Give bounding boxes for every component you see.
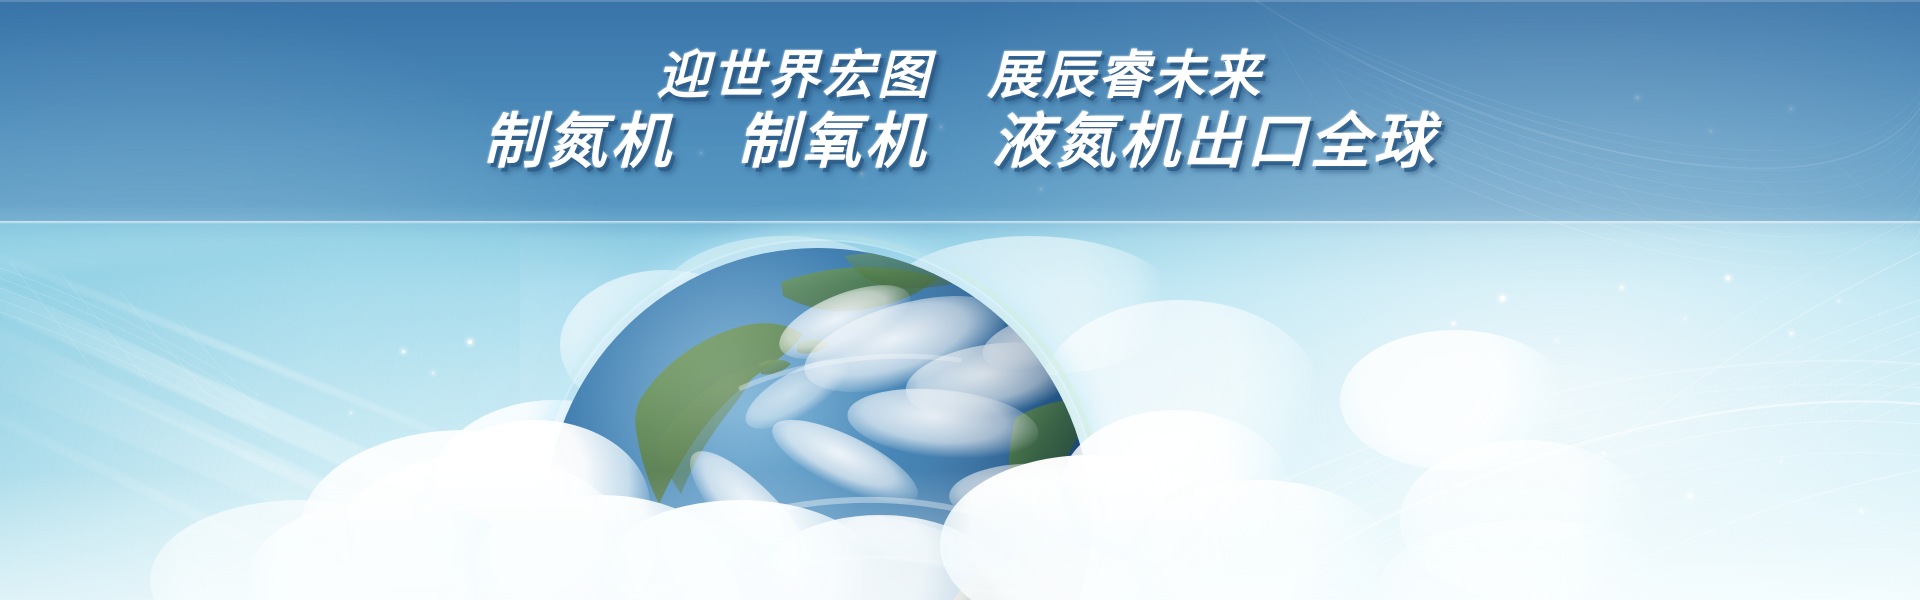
marketing-banner: 迎世界宏图 展辰睿未来 制氮机 制氧机 液氮机出口全球 — [0, 0, 1920, 600]
headline-line-2: 制氮机 制氧机 液氮机出口全球 — [483, 112, 1437, 172]
headline-block: 迎世界宏图 展辰睿未来 制氮机 制氧机 液氮机出口全球 — [0, 0, 1920, 222]
headline-line-1: 迎世界宏图 展辰睿未来 — [657, 50, 1263, 102]
earth-globe — [545, 248, 1105, 600]
